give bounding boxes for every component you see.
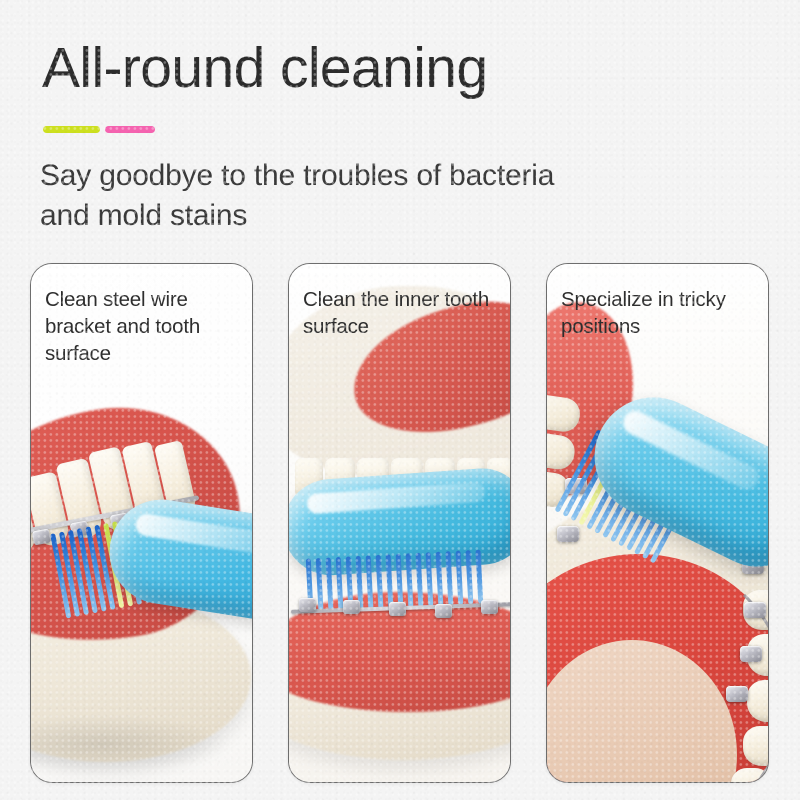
bracket-icon [726,686,748,702]
feature-card-row: Clean steel wire bracket and tooth surfa… [30,263,770,783]
bracket-icon [557,526,579,542]
bracket-icon [481,600,498,614]
accent-bar-green [43,126,100,133]
page-title: All-round cleaning [42,38,487,100]
dental-model-photo-3 [547,263,768,782]
feature-card: Clean the inner tooth surface [288,263,511,783]
accent-bar-pink [105,126,155,133]
bracket-icon [435,604,452,618]
orthodontic-archwire [547,550,768,782]
bracket-icon [744,602,766,618]
feature-card: Specialize in tricky positions [546,263,769,783]
feature-card: Clean steel wire bracket and tooth surfa… [30,263,253,783]
bracket-icon [343,600,360,614]
feature-card-caption: Clean the inner tooth surface [303,286,501,340]
feature-card-caption: Clean steel wire bracket and tooth surfa… [45,286,243,367]
bracket-icon [740,646,762,662]
dental-model-photo-2 [289,263,510,782]
bracket-icon [299,598,316,612]
accent-bar-group [43,126,155,133]
feature-card-caption: Specialize in tricky positions [561,286,759,340]
bracket-icon [389,602,406,616]
page-subtitle: Say goodbye to the troubles of bacteria … [40,156,580,236]
